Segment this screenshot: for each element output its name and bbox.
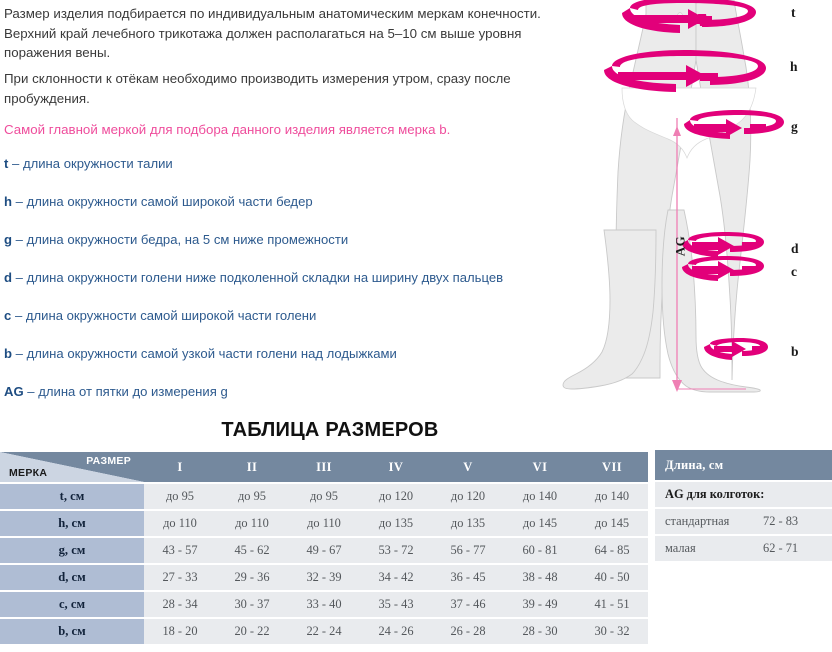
length-panel-header: Длина, см [655, 450, 832, 480]
legend-dash-t: – [12, 156, 19, 171]
cell-g-5: 56 - 77 [432, 538, 504, 563]
cell-h-4: до 135 [360, 511, 432, 536]
legend-key-b: b [4, 346, 12, 361]
legend-key-h: h [4, 194, 12, 209]
cell-d-2: 29 - 36 [216, 565, 288, 590]
instructions-column: Размер изделия подбирается по индивидуал… [0, 0, 568, 412]
table-row: g, см 43 - 57 45 - 62 49 - 67 53 - 72 56… [0, 538, 648, 563]
legend-text-g: длина окружности бедра, на 5 см ниже про… [27, 232, 349, 247]
table-header-row: РАЗМЕР МЕРКА I II III IV V VI VII [0, 452, 648, 482]
length-option-standard-value: 72 - 83 [763, 514, 798, 529]
cell-g-7: 64 - 85 [576, 538, 648, 563]
row-label-c: c, см [0, 592, 144, 617]
cell-c-1: 28 - 34 [144, 592, 216, 617]
length-option-small-label: малая [665, 541, 763, 556]
cell-d-1: 27 - 33 [144, 565, 216, 590]
length-panel-subtitle: AG для колготок: [655, 482, 832, 507]
cell-g-4: 53 - 72 [360, 538, 432, 563]
length-panel-subtitle-text: AG для колготок: [665, 487, 764, 502]
cell-t-5: до 120 [432, 484, 504, 509]
length-option-standard: стандартная 72 - 83 [655, 509, 832, 534]
intro-paragraph-2: При склонности к отёкам необходимо произ… [4, 69, 552, 108]
measure-ring-d [682, 232, 764, 257]
legend-key-ag: AG [4, 384, 24, 399]
cell-c-3: 33 - 40 [288, 592, 360, 617]
corner-label-measure: МЕРКА [9, 467, 47, 479]
legend-key-c: c [4, 308, 11, 323]
legend-item-b: b – длина окружности самой узкой части г… [4, 345, 397, 362]
cell-c-5: 37 - 46 [432, 592, 504, 617]
legend-item-ag: AG – длина от пятки до измерения g [4, 383, 228, 400]
diagram-label-g: g [791, 119, 798, 135]
legend-item-h: h – длина окружности самой широкой части… [4, 193, 313, 210]
row-label-h: h, см [0, 511, 144, 536]
row-label-b: b, см [0, 619, 144, 644]
cell-h-7: до 145 [576, 511, 648, 536]
cell-d-5: 36 - 45 [432, 565, 504, 590]
column-header-5: V [432, 452, 504, 482]
cell-c-6: 39 - 49 [504, 592, 576, 617]
diagram-label-t: t [791, 5, 796, 21]
cell-g-3: 49 - 67 [288, 538, 360, 563]
legend-text-t: длина окружности талии [23, 156, 173, 171]
legend-item-g: g – длина окружности бедра, на 5 см ниже… [4, 231, 348, 248]
intro-paragraph-1: Размер изделия подбирается по индивидуал… [4, 4, 552, 63]
measure-ring-c [682, 256, 764, 281]
cell-h-5: до 135 [432, 511, 504, 536]
cell-b-2: 20 - 22 [216, 619, 288, 644]
legend-dash-d: – [16, 270, 23, 285]
cell-c-4: 35 - 43 [360, 592, 432, 617]
column-header-1: I [144, 452, 216, 482]
legend-dash-g: – [16, 232, 23, 247]
table-row: t, см до 95 до 95 до 95 до 120 до 120 до… [0, 484, 648, 509]
cell-g-6: 60 - 81 [504, 538, 576, 563]
cell-h-6: до 145 [504, 511, 576, 536]
size-table-title: ТАБЛИЦА РАЗМЕРОВ [0, 419, 660, 442]
legend-dash-h: – [16, 194, 23, 209]
legend-dash-c: – [15, 308, 22, 323]
table-row: d, см 27 - 33 29 - 36 32 - 39 34 - 42 36… [0, 565, 648, 590]
legend-text-ag: длина от пятки до измерения g [38, 384, 228, 399]
length-option-small: малая 62 - 71 [655, 536, 832, 561]
corner-label-size: РАЗМЕР [86, 455, 131, 467]
table-corner-cell: РАЗМЕР МЕРКА [0, 452, 144, 482]
column-header-3: III [288, 452, 360, 482]
diagram-label-c: c [791, 264, 797, 280]
cell-d-7: 40 - 50 [576, 565, 648, 590]
cell-t-3: до 95 [288, 484, 360, 509]
row-label-t: t, см [0, 484, 144, 509]
cell-d-3: 32 - 39 [288, 565, 360, 590]
cell-b-4: 24 - 26 [360, 619, 432, 644]
table-row: h, см до 110 до 110 до 110 до 135 до 135… [0, 511, 648, 536]
key-measurement-note: Самой главной меркой для подбора данного… [4, 121, 564, 139]
cell-d-6: 38 - 48 [504, 565, 576, 590]
legend-key-t: t [4, 156, 8, 171]
row-label-g: g, см [0, 538, 144, 563]
legend-text-c: длина окружности самой широкой части гол… [26, 308, 316, 323]
cell-t-6: до 140 [504, 484, 576, 509]
cell-g-2: 45 - 62 [216, 538, 288, 563]
length-option-small-value: 62 - 71 [763, 541, 798, 556]
length-panel: Длина, см AG для колготок: стандартная 7… [655, 450, 832, 561]
cell-b-1: 18 - 20 [144, 619, 216, 644]
legend-item-d: d – длина окружности голени ниже подколе… [4, 269, 503, 286]
diagram-label-d: d [791, 241, 799, 257]
cell-t-4: до 120 [360, 484, 432, 509]
size-table-area: РАЗМЕР МЕРКА I II III IV V VI VII t, см … [0, 450, 832, 652]
legend-text-d: длина окружности голени ниже подколенной… [27, 270, 504, 285]
cell-c-7: 41 - 51 [576, 592, 648, 617]
column-header-6: VI [504, 452, 576, 482]
legend-item-t: t – длина окружности талии [4, 155, 173, 172]
diagram-label-b: b [791, 344, 799, 360]
cell-b-6: 28 - 30 [504, 619, 576, 644]
cell-b-3: 22 - 24 [288, 619, 360, 644]
cell-t-2: до 95 [216, 484, 288, 509]
size-guide-page: Размер изделия подбирается по индивидуал… [0, 0, 832, 652]
legend-item-c: c – длина окружности самой широкой части… [4, 307, 316, 324]
cell-g-1: 43 - 57 [144, 538, 216, 563]
column-header-4: IV [360, 452, 432, 482]
legend-dash-b: – [16, 346, 23, 361]
legend-key-g: g [4, 232, 12, 247]
table-row: c, см 28 - 34 30 - 37 33 - 40 35 - 43 37… [0, 592, 648, 617]
ag-arrowhead-bottom [672, 380, 682, 392]
cell-h-1: до 110 [144, 511, 216, 536]
column-header-7: VII [576, 452, 648, 482]
legend-text-h: длина окружности самой широкой части бед… [27, 194, 313, 209]
cell-c-2: 30 - 37 [216, 592, 288, 617]
legend-dash-ag: – [27, 384, 34, 399]
size-table: РАЗМЕР МЕРКА I II III IV V VI VII t, см … [0, 450, 648, 646]
diagram-label-h: h [790, 59, 798, 75]
column-header-2: II [216, 452, 288, 482]
table-row: b, см 18 - 20 20 - 22 22 - 24 24 - 26 26… [0, 619, 648, 644]
anatomy-measurement-diagram: t h g d c b AG [560, 0, 832, 412]
legend-key-d: d [4, 270, 12, 285]
diagram-label-ag: AG [672, 236, 688, 257]
cell-h-3: до 110 [288, 511, 360, 536]
cell-d-4: 34 - 42 [360, 565, 432, 590]
cell-t-7: до 140 [576, 484, 648, 509]
measure-ring-b [704, 338, 768, 360]
cell-h-2: до 110 [216, 511, 288, 536]
legend-text-b: длина окружности самой узкой части голен… [27, 346, 397, 361]
length-option-standard-label: стандартная [665, 514, 763, 529]
row-label-d: d, см [0, 565, 144, 590]
cell-b-7: 30 - 32 [576, 619, 648, 644]
cell-t-1: до 95 [144, 484, 216, 509]
cell-b-5: 26 - 28 [432, 619, 504, 644]
